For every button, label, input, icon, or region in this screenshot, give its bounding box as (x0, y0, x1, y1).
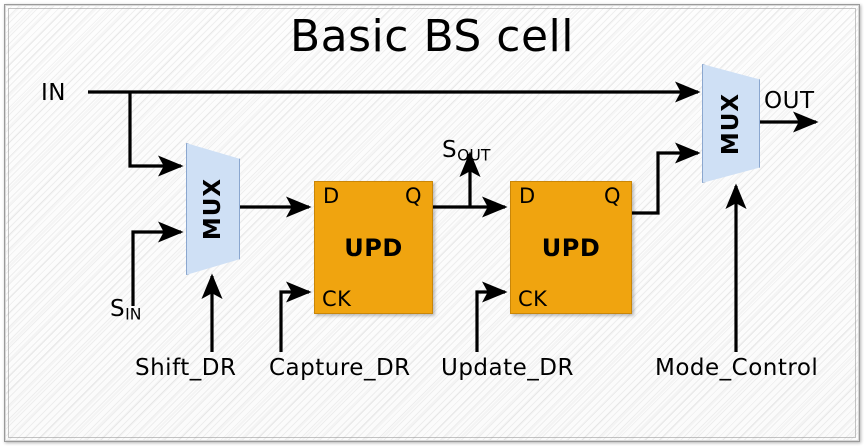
capture-register-block[interactable]: D Q CK UPD (314, 181, 433, 314)
update-register-pin-ck: CK (518, 288, 547, 310)
capture-register-pin-q: Q (405, 185, 422, 207)
mux-left[interactable]: MUX (186, 143, 240, 275)
port-label-s-out: SOUT (442, 137, 490, 168)
port-label-s-in: SIN (110, 296, 141, 327)
port-label-s-in-subscript: IN (125, 304, 141, 323)
update-register-pin-d: D (519, 185, 536, 207)
update-register-label: UPD (511, 234, 631, 262)
mux-left-label: MUX (200, 178, 226, 240)
update-register-pin-q: Q (604, 185, 621, 207)
port-label-s-out-base: S (442, 137, 457, 163)
diagram-canvas: Basic BS cell (0, 0, 864, 446)
port-label-out: OUT (764, 88, 815, 114)
port-label-s-out-subscript: OUT (457, 145, 490, 164)
control-label-mode-control: Mode_Control (655, 355, 818, 381)
port-label-in: IN (41, 80, 66, 106)
page-title: Basic BS cell (0, 10, 864, 64)
capture-register-label: UPD (315, 234, 432, 262)
port-label-s-in-base: S (110, 296, 125, 322)
control-label-capture-dr: Capture_DR (269, 355, 411, 381)
control-label-update-dr: Update_DR (441, 355, 574, 381)
update-register-block[interactable]: D Q CK UPD (510, 181, 632, 314)
mux-right-label: MUX (718, 92, 744, 154)
mux-right[interactable]: MUX (702, 64, 760, 183)
capture-register-pin-d: D (323, 185, 340, 207)
control-label-shift-dr: Shift_DR (135, 355, 236, 381)
capture-register-pin-ck: CK (322, 288, 351, 310)
